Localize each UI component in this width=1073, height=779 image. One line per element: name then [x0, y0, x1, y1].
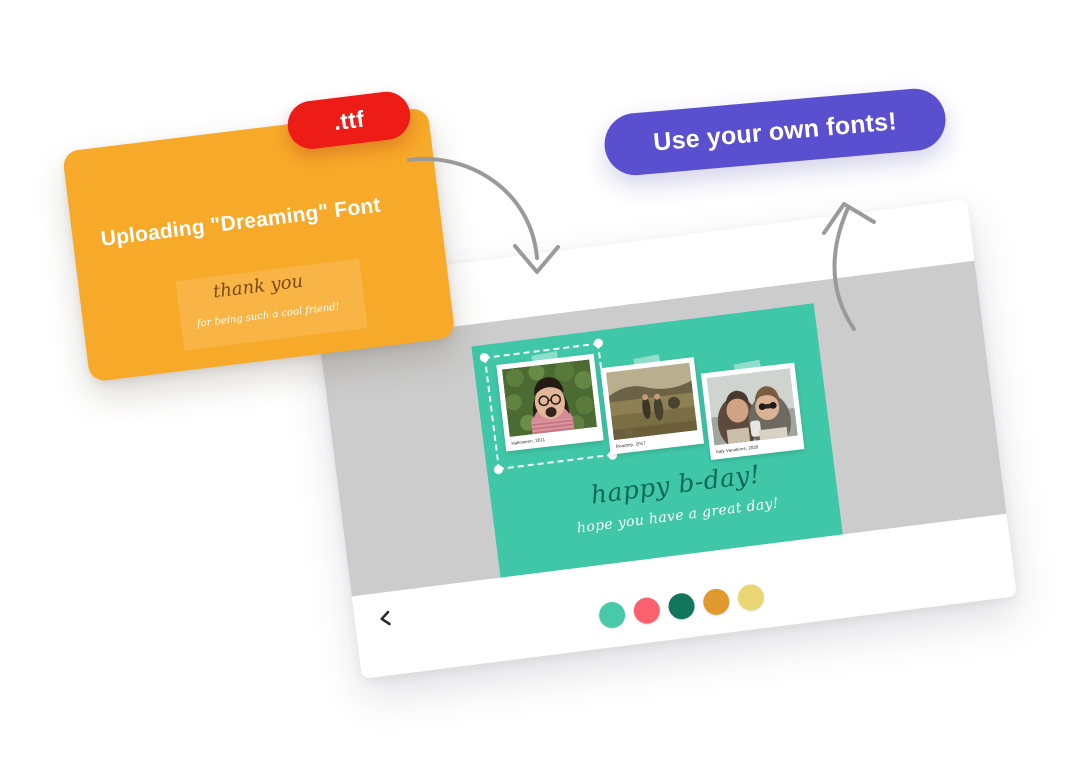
- fonts-badge-label: Use your own fonts!: [652, 107, 898, 157]
- color-swatch-forest-green[interactable]: [667, 592, 696, 621]
- back-button[interactable]: [376, 608, 396, 628]
- upload-status-text: Uploading "Dreaming" Font: [100, 194, 382, 252]
- color-swatch-mint[interactable]: [598, 600, 627, 629]
- font-preview-panel: thank you for being such a cool friend!: [176, 259, 368, 351]
- arrow-upload-to-app-icon: [405, 146, 575, 286]
- selection-handle-bottom-left[interactable]: [493, 465, 503, 475]
- design-canvas[interactable]: Halloween, 2011: [471, 303, 842, 577]
- photo-card-halloween[interactable]: Halloween, 2011: [496, 354, 603, 451]
- color-swatch-coral[interactable]: [632, 596, 661, 625]
- ttf-badge-label: .ttf: [332, 105, 366, 136]
- photo-thumbnail-roadtrip: [606, 363, 697, 440]
- photo-card-roadtrip[interactable]: Roadtrip, 2017: [600, 357, 704, 454]
- color-swatch-orange[interactable]: [702, 587, 731, 616]
- font-preview-heading: thank you: [212, 271, 304, 303]
- photo-card-italy[interactable]: Italy Vacations, 2020: [701, 363, 804, 460]
- font-upload-card: Uploading "Dreaming" Font thank you for …: [62, 107, 456, 382]
- photo-thumbnail-halloween: [502, 359, 597, 437]
- color-swatch-yellow[interactable]: [736, 583, 765, 612]
- photo-thumbnail-italy: [706, 368, 797, 445]
- selection-handle-top-right[interactable]: [593, 338, 603, 348]
- use-your-own-fonts-badge: Use your own fonts!: [602, 86, 948, 178]
- selection-handle-top-left[interactable]: [479, 352, 489, 362]
- font-preview-subtext: for being such a cool friend!: [196, 301, 340, 329]
- illustration-stage: Halloween, 2011: [0, 0, 1073, 779]
- arrow-app-to-badge-icon: [818, 188, 938, 333]
